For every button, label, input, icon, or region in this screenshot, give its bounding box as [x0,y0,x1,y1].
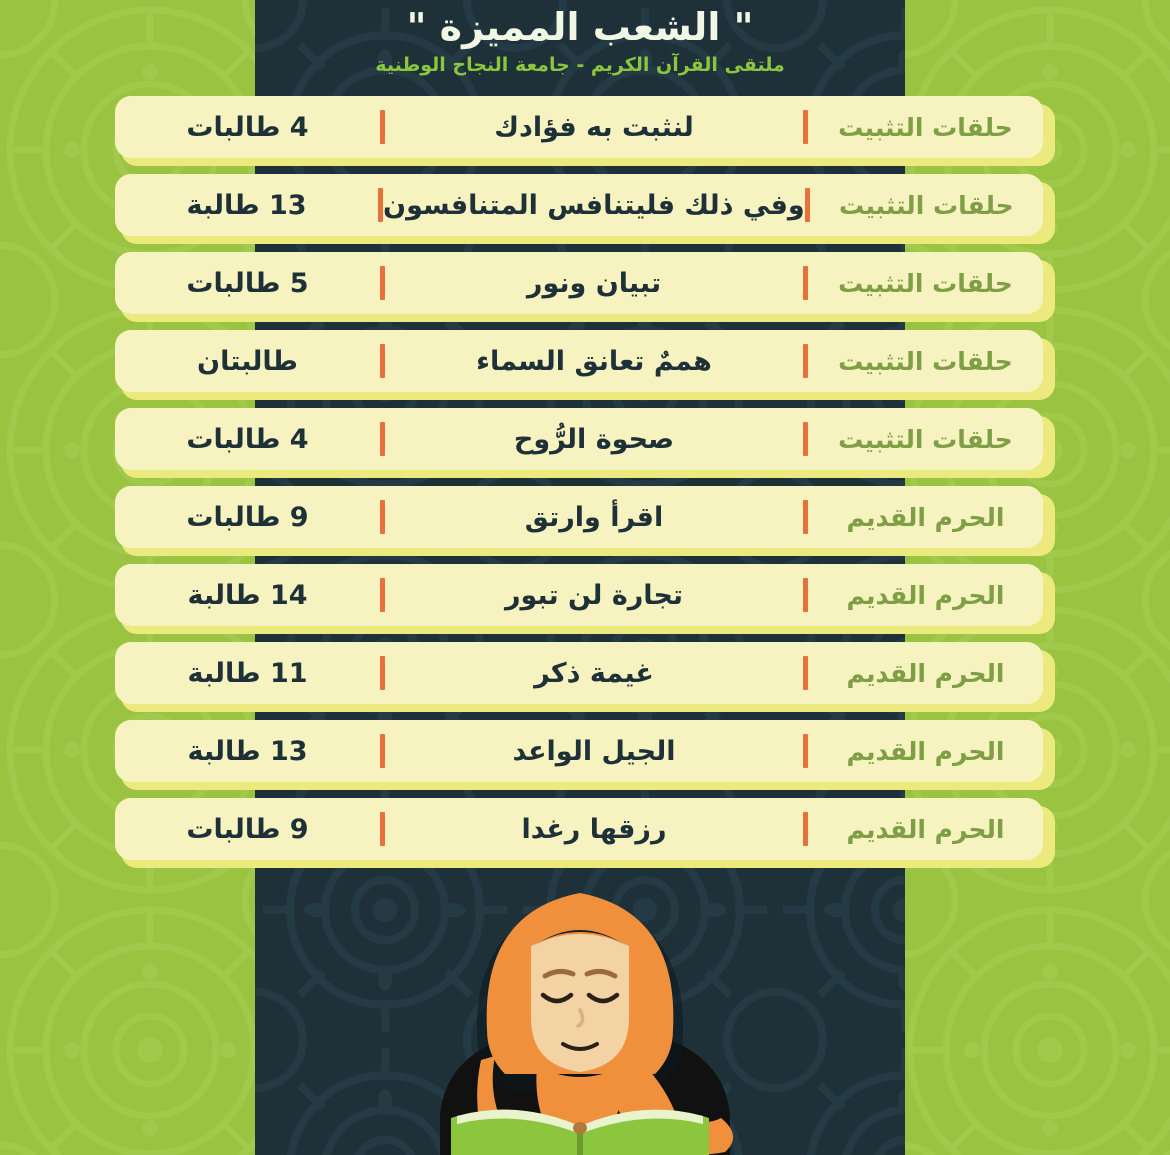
cell-student-count: 5 طالبات [115,268,380,299]
column-divider-icon [380,500,385,534]
column-divider-icon [380,422,385,456]
cell-location: حلقات التثبيت [808,347,1043,376]
cell-student-count: 4 طالبات [115,424,380,455]
row-card[interactable]: حلقات التثبيتوفي ذلك فليتنافس المتنافسون… [115,174,1043,236]
poster-root: " الشعب المميزة " ملتقى القرآن الكريم - … [0,0,1170,1155]
cell-group-name: تبيان ونور [385,268,803,299]
column-divider-icon [803,578,808,612]
column-divider-icon [378,188,383,222]
reading-woman-illustration [255,860,905,1155]
column-divider-icon [380,266,385,300]
column-divider-icon [380,578,385,612]
rows-list: حلقات التثبيتلنثبت به فؤادك4 طالباتحلقات… [0,96,1170,876]
row-card[interactable]: حلقات التثبيتلنثبت به فؤادك4 طالبات [115,96,1043,158]
cell-location: الحرم القديم [808,737,1043,766]
cell-student-count: 9 طالبات [115,814,380,845]
table-row[interactable]: حلقات التثبيتوفي ذلك فليتنافس المتنافسون… [115,174,1055,240]
cell-group-name: غيمة ذكر [385,658,803,689]
row-card[interactable]: الحرم القديماقرأ وارتق9 طالبات [115,486,1043,548]
cell-location: حلقات التثبيت [808,269,1043,298]
column-divider-icon [803,266,808,300]
cell-student-count: 11 طالبة [115,658,380,689]
table-row[interactable]: حلقات التثبيتهممٌ تعانق السماءطالبتان [115,330,1055,396]
row-card[interactable]: حلقات التثبيتهممٌ تعانق السماءطالبتان [115,330,1043,392]
table-row[interactable]: الحرم القديمالجيل الواعد13 طالبة [115,720,1055,786]
cell-group-name: الجيل الواعد [385,736,803,767]
row-card[interactable]: الحرم القديمغيمة ذكر11 طالبة [115,642,1043,704]
column-divider-icon [803,500,808,534]
column-divider-icon [803,734,808,768]
table-row[interactable]: الحرم القديمرزقها رغدا9 طالبات [115,798,1055,864]
cell-group-name: صحوة الرُّوح [385,424,803,455]
column-divider-icon [805,188,810,222]
column-divider-icon [380,812,385,846]
table-row[interactable]: الحرم القديماقرأ وارتق9 طالبات [115,486,1055,552]
column-divider-icon [803,110,808,144]
cell-student-count: 14 طالبة [115,580,380,611]
cell-location: حلقات التثبيت [808,113,1043,142]
page-subtitle: ملتقى القرآن الكريم - جامعة النجاح الوطن… [375,54,784,76]
table-row[interactable]: حلقات التثبيتلنثبت به فؤادك4 طالبات [115,96,1055,162]
table-row[interactable]: الحرم القديمتجارة لن تبور14 طالبة [115,564,1055,630]
column-divider-icon [380,734,385,768]
column-divider-icon [380,344,385,378]
row-card[interactable]: حلقات التثبيتتبيان ونور5 طالبات [115,252,1043,314]
cell-student-count: 9 طالبات [115,502,380,533]
row-card[interactable]: الحرم القديمرزقها رغدا9 طالبات [115,798,1043,860]
cell-student-count: 13 طالبة [115,190,378,221]
cell-group-name: تجارة لن تبور [385,580,803,611]
column-divider-icon [803,344,808,378]
cell-group-name: اقرأ وارتق [385,502,803,533]
row-card[interactable]: حلقات التثبيتصحوة الرُّوح4 طالبات [115,408,1043,470]
column-divider-icon [380,656,385,690]
row-card[interactable]: الحرم القديمتجارة لن تبور14 طالبة [115,564,1043,626]
cell-group-name: رزقها رغدا [385,814,803,845]
poster-header: " الشعب المميزة " ملتقى القرآن الكريم - … [255,0,905,96]
row-card[interactable]: الحرم القديمالجيل الواعد13 طالبة [115,720,1043,782]
cell-group-name: وفي ذلك فليتنافس المتنافسون [383,190,805,221]
table-row[interactable]: حلقات التثبيتتبيان ونور5 طالبات [115,252,1055,318]
cell-group-name: لنثبت به فؤادك [385,112,803,143]
cell-student-count: طالبتان [115,346,380,377]
cell-group-name: هممٌ تعانق السماء [385,346,803,377]
table-row[interactable]: الحرم القديمغيمة ذكر11 طالبة [115,642,1055,708]
cell-student-count: 13 طالبة [115,736,380,767]
column-divider-icon [803,656,808,690]
cell-location: حلقات التثبيت [810,191,1043,220]
cell-location: الحرم القديم [808,503,1043,532]
table-row[interactable]: حلقات التثبيتصحوة الرُّوح4 طالبات [115,408,1055,474]
column-divider-icon [803,812,808,846]
page-title: " الشعب المميزة " [407,6,754,50]
cell-location: الحرم القديم [808,815,1043,844]
column-divider-icon [803,422,808,456]
cell-location: الحرم القديم [808,581,1043,610]
cell-location: حلقات التثبيت [808,425,1043,454]
column-divider-icon [380,110,385,144]
cell-location: الحرم القديم [808,659,1043,688]
reading-woman-svg [255,860,905,1155]
cell-student-count: 4 طالبات [115,112,380,143]
